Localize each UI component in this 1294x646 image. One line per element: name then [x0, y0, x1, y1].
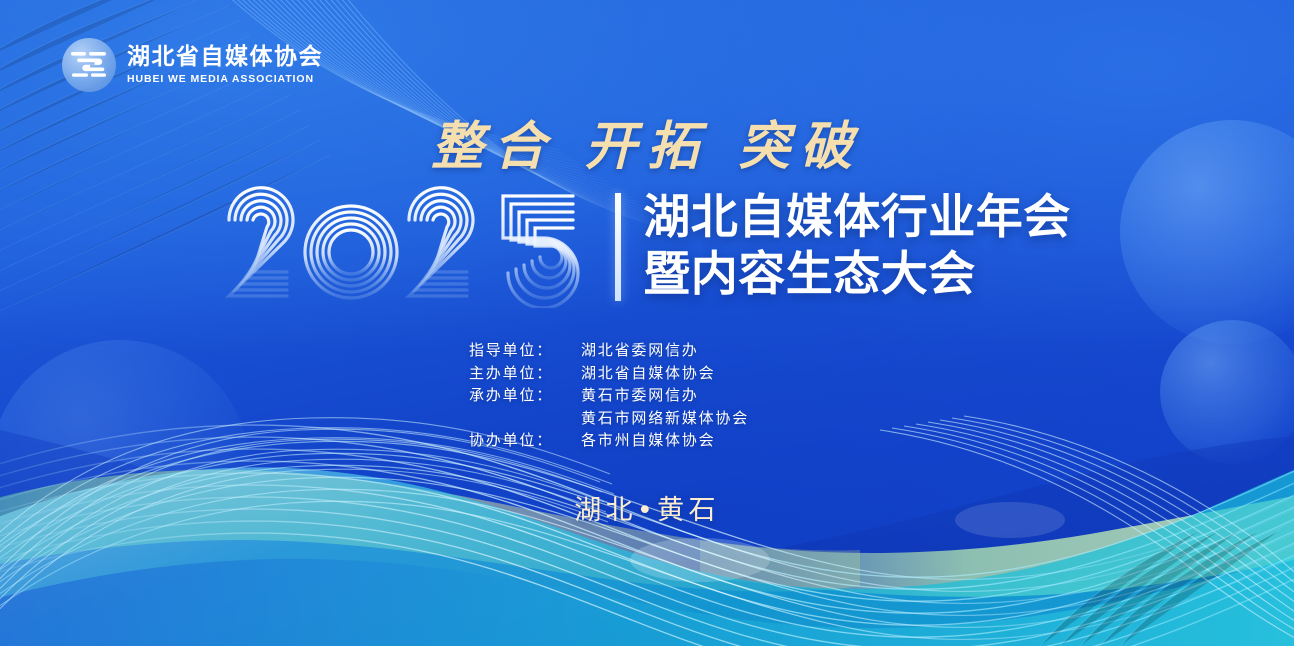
headline-block: 湖北自媒体行业年会 暨内容生态大会	[0, 186, 1294, 308]
organizer-row-continuation: 承办单位： 黄石市网络新媒体协会	[469, 408, 825, 429]
title-divider	[615, 193, 621, 301]
organizer-label: 主办单位：	[469, 363, 581, 384]
title-line-1: 湖北自媒体行业年会	[643, 192, 1071, 245]
background-decoration-layer	[0, 0, 1294, 646]
digit-2-first	[229, 188, 293, 296]
background-graphics	[0, 0, 1294, 646]
organizer-value: 各市州自媒体协会	[581, 430, 825, 451]
digit-5	[503, 196, 578, 308]
wave-crossing-glow	[630, 538, 770, 582]
year-2025-graphic	[223, 186, 593, 308]
logo-chinese-name: 湖北省自媒体协会	[127, 45, 323, 70]
organizer-row: 承办单位： 黄石市委网信办	[469, 385, 825, 406]
title-line-2: 暨内容生态大会	[643, 249, 1071, 302]
organizer-value: 湖北省自媒体协会	[581, 363, 825, 384]
event-poster: 湖北省自媒体协会 HUBEI WE MEDIA ASSOCIATION 整合 开…	[0, 0, 1294, 646]
organizer-row: 主办单位： 湖北省自媒体协会	[469, 363, 825, 384]
logo-glyph	[69, 48, 109, 82]
digit-0	[305, 206, 397, 298]
organizer-label: 承办单位：	[469, 385, 581, 406]
organizer-value: 黄石市委网信办	[581, 385, 825, 406]
event-location: 湖北•黄石	[0, 488, 1294, 527]
cloud-seal-logo-icon	[62, 38, 116, 92]
title-text-block: 湖北自媒体行业年会 暨内容生态大会	[643, 192, 1071, 301]
organizer-label: 协办单位：	[469, 430, 581, 451]
organizer-list: 指导单位： 湖北省委网信办 主办单位： 湖北省自媒体协会 承办单位： 黄石市委网…	[0, 340, 1294, 451]
organizer-value: 湖北省委网信办	[581, 340, 825, 361]
event-slogan: 整合 开拓 突破	[0, 104, 1294, 179]
association-logo: 湖北省自媒体协会 HUBEI WE MEDIA ASSOCIATION	[62, 38, 323, 92]
digit-2-second	[409, 188, 473, 296]
organizer-value: 黄石市网络新媒体协会	[581, 408, 825, 429]
organizer-label: 指导单位：	[469, 340, 581, 361]
year-digits	[223, 186, 593, 308]
logo-english-name: HUBEI WE MEDIA ASSOCIATION	[127, 73, 323, 85]
organizer-row: 协办单位： 各市州自媒体协会	[469, 430, 825, 451]
organizer-row: 指导单位： 湖北省委网信办	[469, 340, 825, 361]
logo-text-block: 湖北省自媒体协会 HUBEI WE MEDIA ASSOCIATION	[127, 45, 323, 86]
